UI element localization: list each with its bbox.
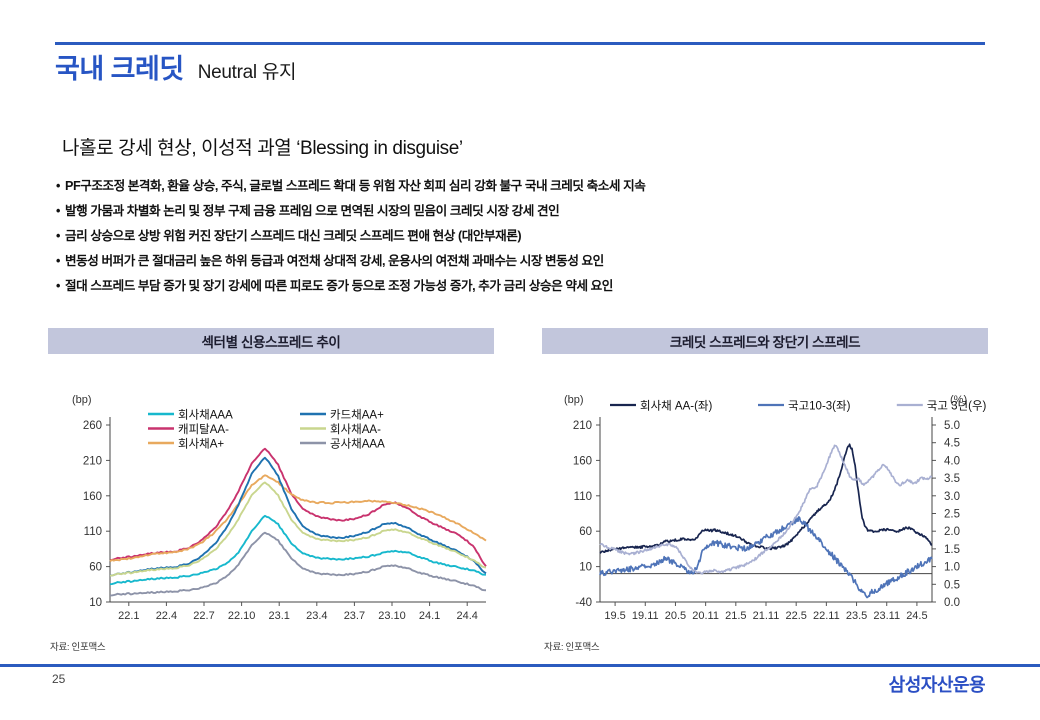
x-tick-label: 19.11 [632, 610, 659, 622]
y-tick-label-left: 110 [574, 491, 592, 503]
slide: 국내 크레딧 Neutral 유지 나홀로 강세 현상, 이성적 과열 ‘Ble… [0, 0, 1040, 720]
chart-panel-credit-vs-term-spread: 크레딧 스프레드와 장단기 스프레드 (bp)(%)-4010601101602… [542, 328, 988, 658]
legend-label-국고10-3(좌): 국고10-3(좌) [788, 400, 851, 413]
x-tick-label: 24.4 [456, 610, 477, 622]
bullet-list: •PF구조조정 본격화, 환율 상승, 주식, 글로벌 스프레드 확대 등 위험… [56, 180, 986, 305]
header-rule [55, 42, 985, 45]
x-tick-label: 20.11 [692, 610, 719, 622]
chart-title-left: 섹터별 신용스프레드 추이 [48, 328, 494, 354]
x-tick-label: 21.5 [725, 610, 746, 622]
x-tick-label: 22.7 [193, 610, 214, 622]
chart-canvas-right: (bp)(%)-4010601101602100.00.51.01.52.02.… [542, 355, 988, 659]
x-tick-label: 23.11 [873, 610, 900, 622]
chart-body-left: (bp)106011016021026022.122.422.722.1023.… [48, 354, 494, 659]
x-tick-label: 22.10 [228, 610, 256, 622]
chart-title-right: 크레딧 스프레드와 장단기 스프레드 [542, 328, 988, 354]
y-tick-label: 210 [83, 455, 102, 467]
x-tick-label: 22.1 [118, 610, 139, 622]
page-number: 25 [52, 672, 65, 686]
y-tick-label: 110 [84, 526, 102, 538]
y-axis-unit-left: (bp) [564, 394, 584, 406]
legend-label-회사채A+: 회사채A+ [178, 438, 224, 451]
y-tick-label-left: 160 [573, 455, 592, 467]
legend-label-카드채AA+: 카드채AA+ [330, 409, 384, 422]
page-title-main: 국내 크레딧 [55, 56, 184, 83]
y-tick-label-right: 4.0 [944, 455, 960, 467]
legend-label-회사채 AA-(좌): 회사채 AA-(좌) [640, 400, 713, 413]
y-tick-label-right: 3.5 [944, 473, 960, 485]
bullet-text: 절대 스프레드 부담 증가 및 장기 강세에 따른 피로도 증가 등으로 조정 … [65, 279, 613, 293]
x-tick-label: 20.5 [665, 610, 686, 622]
page-title-sub: Neutral 유지 [198, 63, 297, 82]
y-tick-label-left: 10 [579, 562, 592, 574]
x-tick-label: 21.11 [753, 610, 780, 622]
chart-canvas-left: (bp)106011016021026022.122.422.722.1023.… [48, 355, 494, 659]
bullet-text: 발행 가뭄과 차별화 논리 및 정부 구제 금융 프레임 으로 면역된 시장의 … [65, 204, 559, 218]
x-tick-label: 23.10 [378, 610, 406, 622]
y-tick-label-right: 1.0 [944, 562, 960, 574]
bullet-marker: • [56, 255, 65, 268]
headline: 나홀로 강세 현상, 이성적 과열 ‘Blessing in disguise’ [62, 133, 463, 160]
bullet-marker: • [56, 280, 65, 293]
bullet-marker: • [56, 230, 65, 243]
y-axis-unit-left: (bp) [72, 394, 92, 406]
series-line-회사채AAA [110, 516, 486, 584]
brand-logo: 삼성자산운용 [889, 671, 985, 697]
x-tick-label: 23.1 [268, 610, 289, 622]
legend-label-국고 3년(우): 국고 3년(우) [927, 400, 987, 413]
bullet-item: •변동성 버퍼가 큰 절대금리 높은 하위 등급과 여전채 상대적 강세, 운용… [56, 255, 986, 268]
chart-source-left: 자료: 인포맥스 [50, 639, 105, 653]
x-tick-label: 23.5 [846, 610, 867, 622]
bullet-text: 금리 상승으로 상방 위험 커진 장단기 스프레드 대신 크레딧 스프레드 편애… [65, 229, 521, 243]
y-tick-label-right: 1.5 [944, 544, 960, 556]
y-tick-label-right: 3.0 [944, 491, 960, 503]
x-tick-label: 19.5 [604, 610, 625, 622]
x-tick-label: 24.1 [419, 610, 440, 622]
y-tick-label-right: 5.0 [944, 420, 960, 432]
y-tick-label: 10 [89, 597, 102, 609]
bullet-marker: • [56, 180, 65, 193]
y-tick-label-left: 210 [573, 420, 592, 432]
y-tick-label: 260 [83, 420, 102, 432]
x-tick-label: 22.11 [813, 610, 840, 622]
x-tick-label: 24.5 [906, 610, 927, 622]
x-tick-label: 23.4 [306, 610, 327, 622]
legend-label-회사채AAA: 회사채AAA [178, 409, 233, 422]
y-tick-label-left: 60 [579, 526, 592, 538]
y-tick-label-right: 2.5 [944, 509, 960, 521]
bullet-item: •PF구조조정 본격화, 환율 상승, 주식, 글로벌 스프레드 확대 등 위험… [56, 180, 986, 193]
y-tick-label-right: 0.0 [944, 597, 960, 609]
legend-label-공사채AAA: 공사채AAA [330, 438, 385, 451]
legend-label-캐피탈AA-: 캐피탈AA- [178, 422, 229, 436]
bullet-item: •발행 가뭄과 차별화 논리 및 정부 구제 금융 프레임 으로 면역된 시장의… [56, 205, 986, 218]
y-tick-label-right: 2.0 [944, 526, 960, 538]
y-tick-label: 160 [83, 491, 102, 503]
legend-label-회사채AA-: 회사채AA- [330, 423, 381, 436]
bullet-text: 변동성 버퍼가 큰 절대금리 높은 하위 등급과 여전채 상대적 강세, 운용사… [65, 254, 604, 268]
x-tick-label: 22.5 [785, 610, 806, 622]
page-title: 국내 크레딧 Neutral 유지 [55, 56, 296, 83]
series-line-카드채AA+ [110, 458, 486, 576]
bullet-item: •금리 상승으로 상방 위험 커진 장단기 스프레드 대신 크레딧 스프레드 편… [56, 230, 986, 243]
y-tick-label-left: -40 [575, 597, 592, 609]
chart-source-right: 자료: 인포맥스 [544, 639, 599, 653]
x-tick-label: 22.4 [156, 610, 177, 622]
y-tick-label-right: 4.5 [944, 438, 960, 450]
bullet-item: •절대 스프레드 부담 증가 및 장기 강세에 따른 피로도 증가 등으로 조정… [56, 280, 986, 293]
series-line-국고 3년(우) [600, 445, 932, 574]
y-tick-label: 60 [89, 562, 102, 574]
bullet-text: PF구조조정 본격화, 환율 상승, 주식, 글로벌 스프레드 확대 등 위험 … [65, 179, 645, 193]
footer-rule [0, 664, 1040, 667]
chart-body-right: (bp)(%)-4010601101602100.00.51.01.52.02.… [542, 354, 988, 659]
y-tick-label-right: 0.5 [944, 579, 960, 591]
chart-panel-sector-credit-spread: 섹터별 신용스프레드 추이 (bp)106011016021026022.122… [48, 328, 494, 658]
bullet-marker: • [56, 205, 65, 218]
x-tick-label: 23.7 [344, 610, 365, 622]
